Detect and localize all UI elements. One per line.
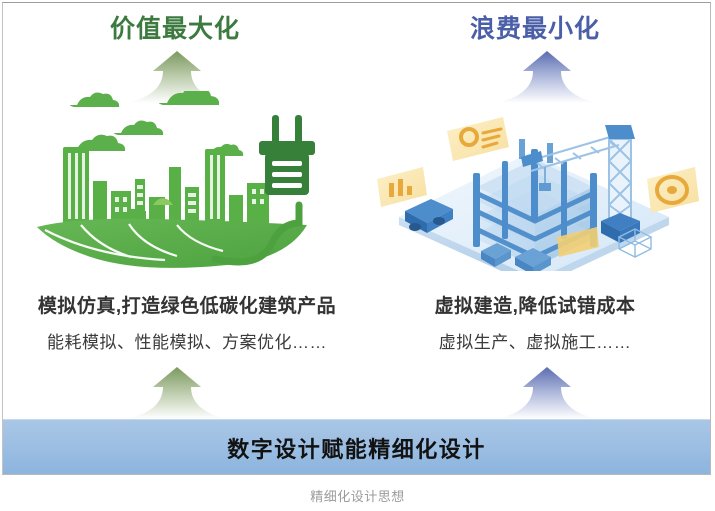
bottom-banner: 数字设计赋能精细化设计 [3,419,710,475]
info-card-top [447,117,509,161]
caption-block-waste-min: 虚拟建造,降低试错成本 虚拟生产、虚拟施工…… [359,293,711,357]
caption-sub-waste-min: 虚拟生产、虚拟施工…… [359,329,711,357]
info-card-left [377,167,427,207]
up-arrow-icon-bottom-right [495,365,599,421]
bottom-banner-text: 数字设计赋能精细化设计 [227,432,486,464]
caption-sub-value-max: 能耗模拟、性能模拟、方案优化…… [11,329,363,357]
illustration-blue-construction-site [369,91,709,271]
illustration-green-eco-city [19,91,359,271]
slide-root: 价值最大化 浪费最小化 [0,0,715,511]
figure-frame: 价值最大化 浪费最小化 [2,2,711,475]
info-card-right [647,167,699,213]
caption-main-waste-min: 虚拟建造,降低试错成本 [359,293,711,321]
caption-block-value-max: 模拟仿真,打造绿色低碳化建筑产品 能耗模拟、性能模拟、方案优化…… [11,293,363,357]
column-title-value-max: 价值最大化 [35,13,315,45]
column-title-waste-min: 浪费最小化 [395,13,675,45]
figure-caption: 精细化设计思想 [0,486,715,505]
up-arrow-icon-bottom-left [125,365,229,421]
caption-main-value-max: 模拟仿真,打造绿色低碳化建筑产品 [11,293,363,321]
